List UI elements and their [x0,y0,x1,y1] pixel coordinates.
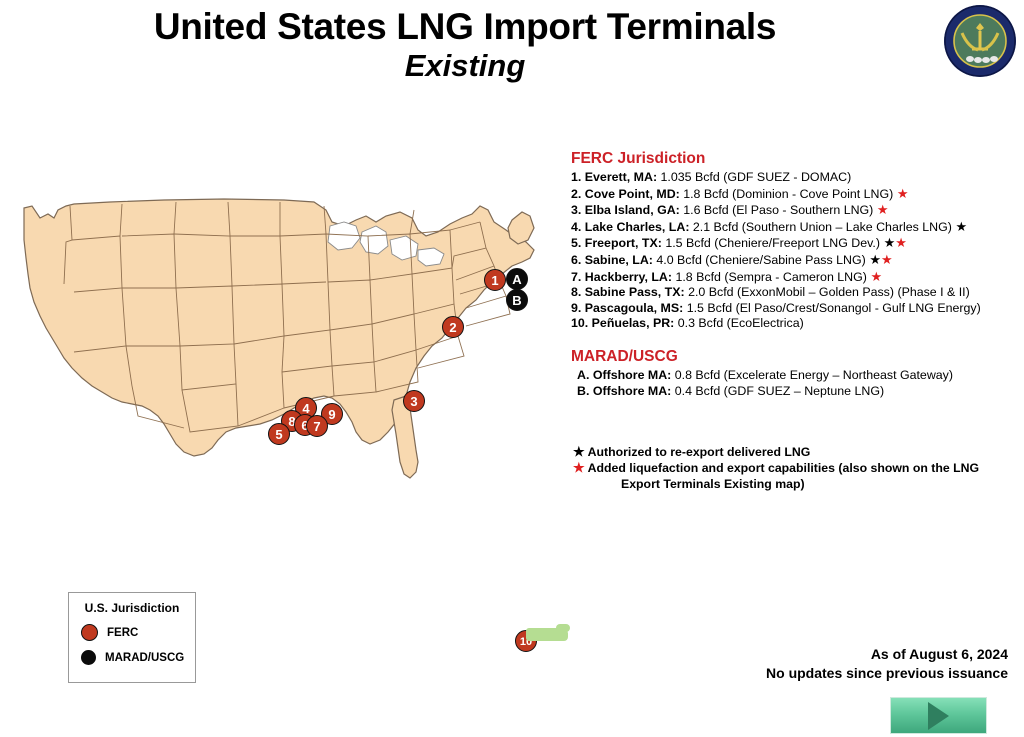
terminal-entry-label: 6. Sabine, LA: [571,253,656,267]
play-triangle-icon [928,702,949,730]
legend-items: FERCMARAD/USCG [69,624,195,665]
as-of-date: As of August 6, 2024 [766,645,1008,664]
terminal-entry: A. Offshore MA: 0.8 Bcfd (Excelerate Ene… [571,368,1019,384]
terminal-entry-label: 5. Freeport, TX: [571,236,665,250]
footnote-black-star: ★ Authorized to re-export delivered LNG [573,444,1003,460]
map-marker-7[interactable]: 7 [306,415,328,437]
ferc-dot-icon [81,624,98,641]
map-marker-1[interactable]: 1 [484,269,506,291]
terminal-entry: 4. Lake Charles, LA: 2.1 Bcfd (Southern … [571,219,1019,236]
terminal-entry-label: 1. Everett, MA: [571,170,661,184]
terminal-entry-detail: 2.1 Bcfd (Southern Union – Lake Charles … [693,220,952,234]
legend-item-label: FERC [107,627,138,639]
terminal-entry-detail: 1.8 Bcfd (Sempra - Cameron LNG) [675,270,866,284]
terminal-entry: 7. Hackberry, LA: 1.8 Bcfd (Sempra - Cam… [571,269,1019,286]
red-star-icon: ★ [881,252,893,267]
map-marker-2[interactable]: 2 [442,316,464,338]
terminal-entry: 10. Peñuelas, PR: 0.3 Bcfd (EcoElectrica… [571,316,1019,332]
puerto-rico-shape [526,628,568,641]
black-star-icon: ★ [866,252,881,267]
terminal-entry-label: 4. Lake Charles, LA: [571,220,693,234]
marad-dot-icon [81,650,96,665]
terminal-entry-detail: 1.035 Bcfd (GDF SUEZ - DOMAC) [661,170,852,184]
us-map [14,196,554,506]
terminal-entry: 3. Elba Island, GA: 1.6 Bcfd (El Paso - … [571,202,1019,219]
terminal-entry-label: 7. Hackberry, LA: [571,270,675,284]
red-star-icon: ★ [893,186,908,201]
terminal-entry-label: 9. Pascagoula, MS: [571,301,687,315]
terminal-entry-label: 3. Elba Island, GA: [571,203,683,217]
title-block: United States LNG Import Terminals Exist… [0,8,930,83]
terminal-entry-detail: 0.3 Bcfd (EcoElectrica) [678,316,804,330]
red-star-icon: ★ [895,235,907,250]
terminal-entry-detail: 0.4 Bcfd (GDF SUEZ – Neptune LNG) [675,384,884,398]
terminal-entry: 8. Sabine Pass, TX: 2.0 Bcfd (ExxonMobil… [571,285,1019,301]
footnotes: ★ Authorized to re-export delivered LNG … [573,444,1003,492]
terminal-entry-label: A. Offshore MA: [577,368,675,382]
legend-item-label: MARAD/USCG [105,652,184,664]
red-star-icon: ★ [867,269,882,284]
map-marker-3[interactable]: 3 [403,390,425,412]
marad-section-heading: MARAD/USCG [571,348,1019,366]
legend-item-ferc: FERC [69,624,195,641]
no-updates-note: No updates since previous issuance [766,664,1008,683]
terminal-entry: B. Offshore MA: 0.4 Bcfd (GDF SUEZ – Nep… [571,384,1019,400]
as-of-block: As of August 6, 2024 No updates since pr… [766,645,1008,683]
terminal-entry-detail: 2.0 Bcfd (ExxonMobil – Golden Pass) (Pha… [688,285,970,299]
next-slide-button[interactable] [890,697,987,734]
page-title: United States LNG Import Terminals [0,8,930,47]
terminal-entry-detail: 4.0 Bcfd (Cheniere/Sabine Pass LNG) [656,253,865,267]
red-star-icon: ★ [873,202,888,217]
terminal-entry-detail: 1.5 Bcfd (Cheniere/Freeport LNG Dev.) [665,236,880,250]
terminal-entry-label: 10. Peñuelas, PR: [571,316,678,330]
map-marker-B[interactable]: B [506,289,528,311]
terminal-entry-label: 8. Sabine Pass, TX: [571,285,688,299]
terminal-lists: FERC Jurisdiction 1. Everett, MA: 1.035 … [571,150,1019,399]
doe-ferc-seal-icon [942,3,1018,79]
terminal-entry-label: B. Offshore MA: [577,384,675,398]
black-star-icon: ★ [573,444,585,459]
ferc-entry-list: 1. Everett, MA: 1.035 Bcfd (GDF SUEZ - D… [571,170,1019,332]
marad-entry-list: A. Offshore MA: 0.8 Bcfd (Excelerate Ene… [571,368,1019,399]
page-subtitle: Existing [0,49,930,83]
map-legend: U.S. Jurisdiction FERCMARAD/USCG [68,592,196,683]
terminal-entry-label: 2. Cove Point, MD: [571,187,683,201]
legend-title: U.S. Jurisdiction [69,601,195,615]
terminal-entry: 5. Freeport, TX: 1.5 Bcfd (Cheniere/Free… [571,235,1019,252]
terminal-entry-detail: 1.6 Bcfd (El Paso - Southern LNG) [683,203,873,217]
terminal-entry: 2. Cove Point, MD: 1.8 Bcfd (Dominion - … [571,186,1019,203]
ferc-section-heading: FERC Jurisdiction [571,150,1019,168]
black-star-icon: ★ [880,235,895,250]
terminal-entry-detail: 1.8 Bcfd (Dominion - Cove Point LNG) [683,187,893,201]
puerto-rico-inset [512,628,576,676]
terminal-entry: 1. Everett, MA: 1.035 Bcfd (GDF SUEZ - D… [571,170,1019,186]
footnote-red-star-text: Added liquefaction and export capabiliti… [588,461,980,475]
terminal-entry: 6. Sabine, LA: 4.0 Bcfd (Cheniere/Sabine… [571,252,1019,269]
footnote-black-star-text: Authorized to re-export delivered LNG [588,445,811,459]
footnote-red-star: ★ Added liquefaction and export capabili… [573,460,1003,476]
legend-item-marad: MARAD/USCG [69,650,195,665]
black-star-icon: ★ [952,219,967,234]
footnote-red-star-continued: Export Terminals Existing map) [573,476,1003,492]
red-star-icon: ★ [573,460,585,475]
terminal-entry-detail: 1.5 Bcfd (El Paso/Crest/Sonangol - Gulf … [687,301,981,315]
terminal-entry-detail: 0.8 Bcfd (Excelerate Energy – Northeast … [675,368,953,382]
map-marker-A[interactable]: A [506,268,528,290]
terminal-entry: 9. Pascagoula, MS: 1.5 Bcfd (El Paso/Cre… [571,301,1019,317]
map-marker-5[interactable]: 5 [268,423,290,445]
